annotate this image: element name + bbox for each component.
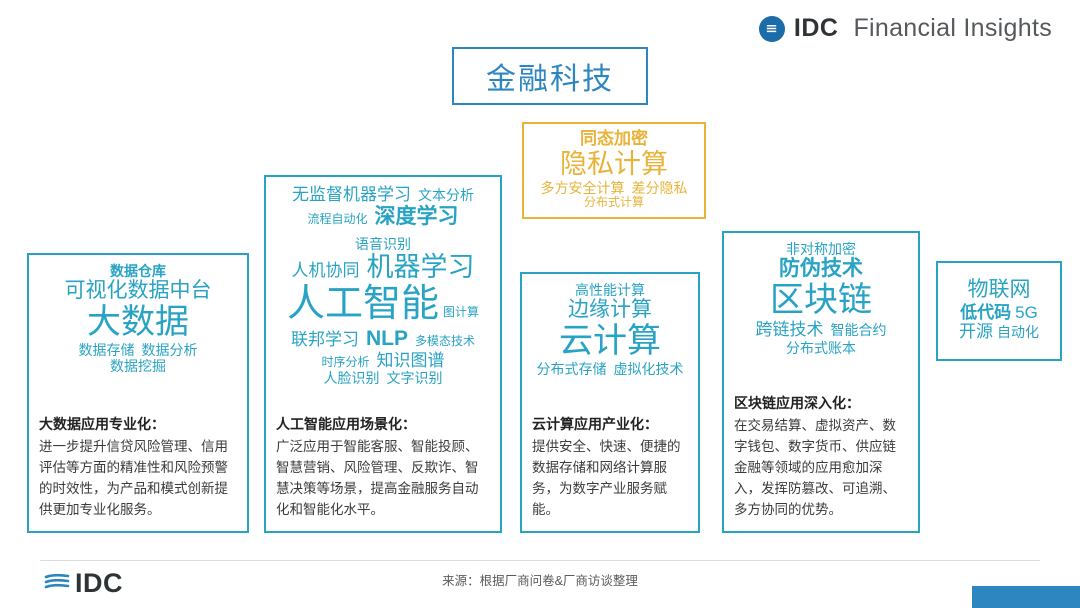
block-word-3: 跨链技术 — [756, 320, 824, 340]
slide-canvas: IDC Financial Insights 金融科技 同态加密 隐私计算 多方… — [0, 0, 1080, 608]
bigdata-word-3: 数据存储 — [79, 342, 135, 358]
privacy-word-4: 分布式计算 — [534, 196, 694, 210]
word-cloud-ai: 无监督机器学习 文本分析 流程自动化 深度学习 语音识别 人机协同 机器学习 人… — [276, 185, 490, 386]
cloud-word-2: 云计算 — [532, 322, 688, 361]
ai-word-13: 知识图谱 — [377, 351, 445, 371]
cloud-desc-head: 云计算应用产业化： — [532, 414, 688, 436]
brand-logo: IDC Financial Insights — [759, 14, 1052, 43]
block-word-0: 非对称加密 — [734, 241, 908, 257]
ai-word-0: 无监督机器学习 — [292, 185, 411, 205]
privacy-word-0: 同态加密 — [534, 129, 694, 149]
corner-accent-block — [972, 586, 1080, 608]
ai-word-8: 图计算 — [443, 306, 479, 320]
privacy-word-2: 多方安全计算 — [541, 180, 625, 196]
brand-subtitle: Financial Insights — [853, 14, 1052, 43]
card-blockchain: 非对称加密 防伪技术 区块链 跨链技术 智能合约 分布式账本 区块链应用深入化：… — [722, 231, 920, 533]
ai-description: 人工智能应用场景化： 广泛应用于智能客服、智能投顾、智慧营销、风险管理、反欺诈、… — [276, 414, 490, 521]
word-cloud-iot: 物联网 低代码 5G 开源 自动化 — [948, 278, 1050, 341]
block-word-2: 区块链 — [734, 281, 908, 320]
block-desc-body: 在交易结算、虚拟资产、数字钱包、数字货币、供应链金融等领域的应用愈加深入，发挥防… — [734, 418, 896, 517]
ai-word-1: 文本分析 — [418, 187, 474, 203]
card-big-data: 数据仓库 可视化数据中台 大数据 数据存储 数据分析 数据挖掘 大数据应用专业化… — [27, 253, 249, 533]
cloud-word-1: 边缘计算 — [532, 298, 688, 322]
iot-word-3: 开源 — [959, 322, 993, 342]
cloud-word-4: 虚拟化技术 — [614, 361, 684, 377]
word-cloud-bigdata: 数据仓库 可视化数据中台 大数据 数据存储 数据分析 数据挖掘 — [39, 263, 237, 375]
card-artificial-intelligence: 无监督机器学习 文本分析 流程自动化 深度学习 语音识别 人机协同 机器学习 人… — [264, 175, 502, 533]
bigdata-desc-body: 进一步提升信贷风险管理、信用评估等方面的精准性和风险预警的时效性，为产品和模式创… — [39, 439, 228, 517]
ai-desc-body: 广泛应用于智能客服、智能投顾、智慧营销、风险管理、反欺诈、智慧决策等场景，提高金… — [276, 439, 479, 517]
page-title: 金融科技 — [452, 47, 648, 105]
word-cloud-cloud: 高性能计算 边缘计算 云计算 分布式存储 虚拟化技术 — [532, 282, 688, 377]
block-word-1: 防伪技术 — [734, 257, 908, 281]
card-iot: 物联网 低代码 5G 开源 自动化 — [936, 261, 1062, 361]
ai-desc-head: 人工智能应用场景化： — [276, 414, 490, 436]
ai-word-4: 语音识别 — [355, 236, 411, 252]
ai-word-12: 时序分析 — [321, 356, 369, 370]
card-cloud-computing: 高性能计算 边缘计算 云计算 分布式存储 虚拟化技术 云计算应用产业化： 提供安… — [520, 272, 700, 533]
footer-divider — [40, 560, 1040, 561]
word-cloud-privacy: 同态加密 隐私计算 多方安全计算 差分隐私 分布式计算 — [534, 129, 694, 209]
ai-word-7: 人工智能 — [287, 283, 439, 327]
ai-word-11: 多模态技术 — [415, 335, 475, 349]
bigdata-word-0: 数据仓库 — [39, 263, 237, 279]
ai-word-10: NLP — [366, 327, 408, 351]
privacy-word-3: 差分隐私 — [632, 180, 688, 196]
block-desc-head: 区块链应用深入化： — [734, 393, 908, 415]
ai-word-9: 联邦学习 — [291, 330, 359, 350]
ai-word-6: 机器学习 — [367, 252, 475, 283]
ai-word-2: 流程自动化 — [307, 213, 367, 227]
card-privacy-computing: 同态加密 隐私计算 多方安全计算 差分隐私 分布式计算 — [522, 122, 706, 219]
brand-name: IDC — [794, 14, 839, 43]
iot-word-0: 物联网 — [948, 278, 1050, 302]
bigdata-description: 大数据应用专业化： 进一步提升信贷风险管理、信用评估等方面的精准性和风险预警的时… — [39, 414, 237, 521]
bigdata-word-4: 数据分析 — [142, 342, 198, 358]
idc-circle-icon — [759, 16, 785, 42]
iot-word-1: 低代码 — [960, 303, 1011, 323]
bigdata-word-5: 数据挖掘 — [39, 358, 237, 374]
bigdata-word-1: 可视化数据中台 — [39, 279, 237, 303]
cloud-description: 云计算应用产业化： 提供安全、快速、便捷的数据存储和网络计算服务，为数字产业服务… — [532, 414, 688, 521]
block-word-4: 智能合约 — [831, 322, 887, 338]
ai-word-14: 人脸识别 — [324, 370, 380, 386]
ai-word-5: 人机协同 — [292, 261, 360, 281]
cloud-desc-body: 提供安全、快速、便捷的数据存储和网络计算服务，为数字产业服务赋能。 — [532, 439, 681, 517]
iot-word-4: 自动化 — [997, 324, 1039, 340]
cloud-word-3: 分布式存储 — [537, 361, 607, 377]
bigdata-desc-head: 大数据应用专业化： — [39, 414, 237, 436]
block-word-5: 分布式账本 — [734, 340, 908, 356]
iot-word-2: 5G — [1015, 303, 1038, 323]
ai-word-3: 深度学习 — [375, 205, 459, 229]
ai-word-15: 文字识别 — [387, 370, 443, 386]
word-cloud-blockchain: 非对称加密 防伪技术 区块链 跨链技术 智能合约 分布式账本 — [734, 241, 908, 356]
privacy-word-1: 隐私计算 — [534, 149, 694, 180]
cloud-word-0: 高性能计算 — [532, 282, 688, 298]
source-note: 来源：根据厂商问卷&厂商访谈整理 — [0, 570, 1080, 589]
bigdata-word-2: 大数据 — [39, 303, 237, 342]
blockchain-description: 区块链应用深入化： 在交易结算、虚拟资产、数字钱包、数字货币、供应链金融等领域的… — [734, 393, 908, 521]
